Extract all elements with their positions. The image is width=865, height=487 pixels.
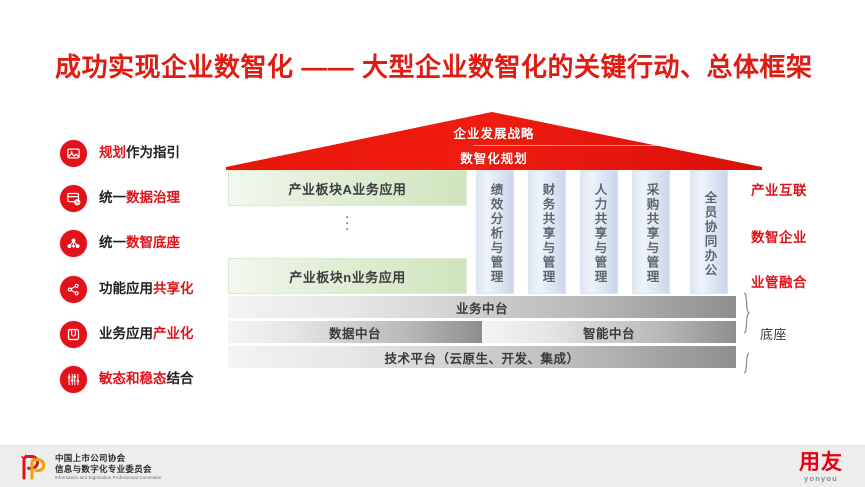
platform-bar-data[interactable]: 数据中台 <box>228 321 482 343</box>
association-line-3: Information and Digitization Professiona… <box>55 474 162 481</box>
shared-column-performance[interactable]: 绩效分析与管理 <box>476 170 514 294</box>
brand-logo-block: 用友 yonyou <box>799 452 843 484</box>
sidebar-item-planning[interactable]: 规划作为指引 <box>60 138 180 168</box>
association-mark-icon <box>18 453 48 481</box>
pediment-divider <box>473 145 865 146</box>
slide-canvas: 成功实现企业数智化 —— 大型企业数智化的关键行动、总体框架 规划作为指引 <box>0 0 865 487</box>
brand-name-en: yonyou <box>799 474 843 484</box>
sidebar-item-label: 规划作为指引 <box>99 145 180 161</box>
sidebar-item-label: 功能应用共享化 <box>99 281 194 297</box>
platform-bar-business[interactable]: 业务中台 <box>228 296 736 318</box>
sidebar-item-agile-stable[interactable]: 敏态和稳态结合 <box>60 364 194 394</box>
sidebar-item-digital-foundation[interactable]: 统一数智底座 <box>60 228 180 258</box>
panel-ellipsis: ··· <box>228 215 467 233</box>
right-label-digital-enterprise: 数智企业 <box>751 226 807 246</box>
sidebar-item-label: 统一数据治理 <box>99 190 180 206</box>
foundation-brace-icon <box>740 292 758 374</box>
industry-panel-n-label: 产业板块n业务应用 <box>289 267 405 286</box>
sidebar-item-label: 业务应用产业化 <box>99 326 194 342</box>
association-text: 中国上市公司协会 信息与数字化专业委员会 Information and Dig… <box>55 453 162 481</box>
footer-bar: 中国上市公司协会 信息与数字化专业委员会 Information and Dig… <box>0 445 865 487</box>
right-label-business-management: 业管融合 <box>751 271 807 291</box>
shared-column-finance[interactable]: 财务共享与管理 <box>528 170 566 294</box>
shared-column-collaboration[interactable]: 全员协同办公 <box>690 170 728 294</box>
share-nodes-icon <box>60 276 87 303</box>
sidebar-item-label: 敏态和稳态结合 <box>99 371 194 387</box>
sidebar-item-data-governance[interactable]: 统一数据治理 <box>60 183 180 213</box>
shared-column-label: 采购共享与管理 <box>645 183 658 285</box>
page-title: 成功实现企业数智化 —— 大型企业数智化的关键行动、总体框架 <box>55 50 845 84</box>
foundation-label: 底座 <box>760 324 787 343</box>
association-line-1: 中国上市公司协会 <box>55 453 162 464</box>
pediment-line-1: 企业发展战略 <box>226 123 762 142</box>
platform-bar-ai[interactable]: 智能中台 <box>482 321 736 343</box>
brand-name-cn: 用友 <box>799 452 843 473</box>
image-plan-icon <box>60 140 87 167</box>
industry-panel-a-label: 产业板块A业务应用 <box>289 179 407 198</box>
shared-column-label: 财务共享与管理 <box>541 183 554 285</box>
shared-column-procurement[interactable]: 采购共享与管理 <box>632 170 670 294</box>
shared-column-hr[interactable]: 人力共享与管理 <box>580 170 618 294</box>
pediment-roof: 企业发展战略 数智化规划 <box>226 112 762 170</box>
shared-column-label: 全员协同办公 <box>703 191 716 278</box>
sidebar-item-industrialized-apps[interactable]: 业务应用产业化 <box>60 319 194 349</box>
shared-column-label: 人力共享与管理 <box>593 183 606 285</box>
right-label-industry-internet: 产业互联 <box>751 179 807 199</box>
database-gear-icon <box>60 185 87 212</box>
association-logo-block: 中国上市公司协会 信息与数字化专业委员会 Information and Dig… <box>18 453 162 481</box>
platform-bar-tech[interactable]: 技术平台（云原生、开发、集成） <box>228 346 736 368</box>
shared-column-label: 绩效分析与管理 <box>489 183 502 285</box>
industry-panel-n[interactable]: 产业板块n业务应用 <box>228 258 467 294</box>
sidebar-item-shared-apps[interactable]: 功能应用共享化 <box>60 274 194 304</box>
industry-panel-a[interactable]: 产业板块A业务应用 <box>228 170 467 206</box>
network-node-icon <box>60 230 87 257</box>
pediment-line-2: 数智化规划 <box>226 148 762 167</box>
box-app-icon <box>60 321 87 348</box>
sidebar-item-label: 统一数智底座 <box>99 235 180 251</box>
sliders-icon <box>60 366 87 393</box>
association-line-2: 信息与数字化专业委员会 <box>55 464 162 475</box>
